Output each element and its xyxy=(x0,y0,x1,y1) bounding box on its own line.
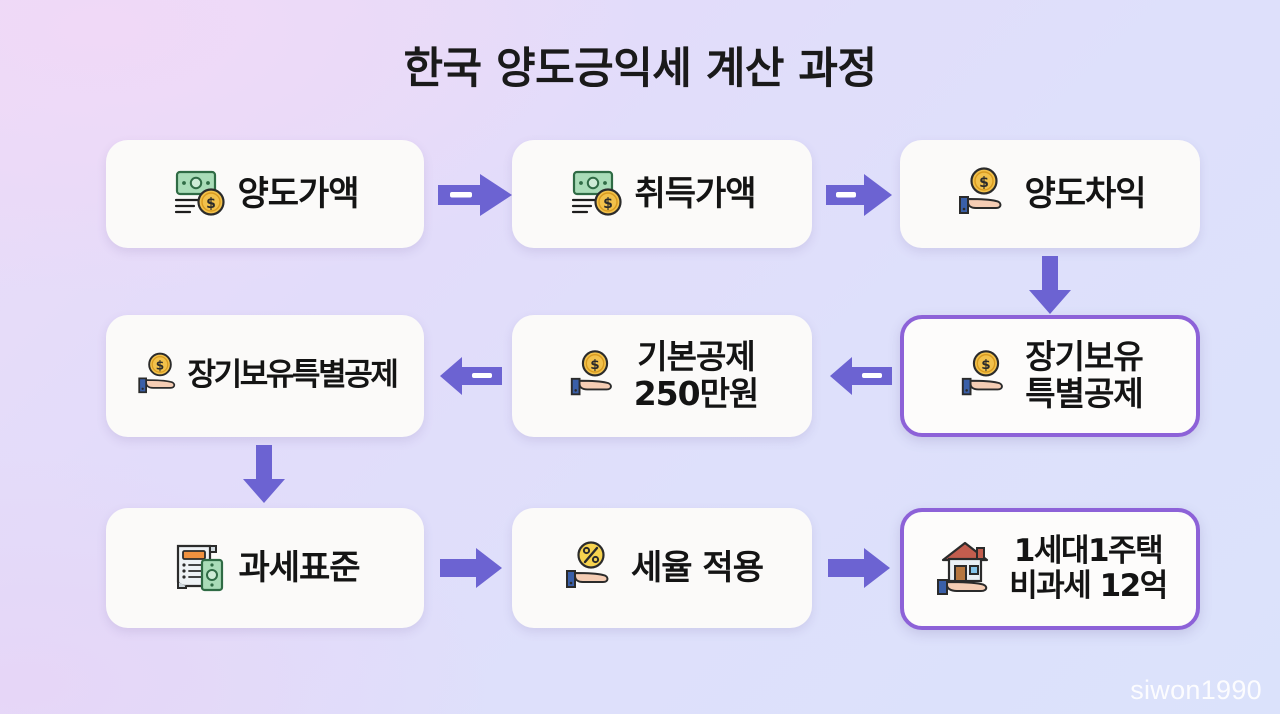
arrow-gain-to-longterm xyxy=(1026,254,1074,321)
minus-operator-icon xyxy=(450,192,472,198)
minus-operator-icon xyxy=(836,192,856,198)
receipt-money-icon xyxy=(170,538,228,599)
node-label: 기본공제 250만원 xyxy=(634,339,759,413)
arrow-transfer-to-acquisition xyxy=(436,172,514,223)
node-long-term-deduction[interactable]: $ 장기보유 특별공제 xyxy=(900,315,1200,437)
node-transfer-gain[interactable]: $ 양도차익 xyxy=(900,140,1200,248)
svg-text:$: $ xyxy=(980,175,990,191)
page-title: 한국 양도긍익세 계산 과정 xyxy=(0,34,1280,96)
node-exemption[interactable]: 1세대1주택 비과세 12억 xyxy=(900,508,1200,630)
node-label: 1세대1주택 비과세 12억 xyxy=(1009,534,1167,603)
banknote-coin-icon: $ xyxy=(568,167,624,222)
minus-operator-icon xyxy=(472,373,492,378)
watermark: siwon1990 xyxy=(1130,675,1262,706)
hand-coin-icon: $ xyxy=(134,350,186,403)
hand-coin-icon: $ xyxy=(954,165,1014,224)
hand-coin-icon: $ xyxy=(566,347,624,406)
arrow-ltsingle-to-taxbase xyxy=(240,443,288,510)
arrow-longterm-to-basic xyxy=(828,355,894,402)
node-label: 세율 적용 xyxy=(631,550,763,587)
node-acquisition-price[interactable]: $ 취득가액 xyxy=(512,140,812,248)
hand-house-icon xyxy=(933,538,999,601)
infographic-canvas: 한국 양도긍익세 계산 과정 $ 양도가액 xyxy=(0,0,1280,714)
hand-coin-icon: $ xyxy=(957,347,1015,406)
svg-text:$: $ xyxy=(155,358,163,372)
arrow-basic-to-ltsingle xyxy=(438,355,504,402)
node-tax-base[interactable]: 과세표준 xyxy=(106,508,424,628)
svg-text:$: $ xyxy=(207,196,217,212)
svg-text:$: $ xyxy=(604,196,614,212)
arrow-taxrate-to-exemption xyxy=(826,546,892,595)
hand-percent-icon xyxy=(561,539,621,598)
svg-text:$: $ xyxy=(590,357,599,373)
svg-text:$: $ xyxy=(982,357,991,373)
node-label: 취득가액 xyxy=(634,176,755,213)
node-label: 장기보유특별공제 xyxy=(188,359,397,392)
node-long-term-special-deduction[interactable]: $ 장기보유특별공제 xyxy=(106,315,424,437)
minus-operator-icon xyxy=(862,373,882,378)
arrow-acquisition-to-gain xyxy=(824,172,894,223)
node-label: 장기보유 특별공제 xyxy=(1025,339,1142,413)
node-tax-rate[interactable]: 세율 적용 xyxy=(512,508,812,628)
node-transfer-price[interactable]: $ 양도가액 xyxy=(106,140,424,248)
node-label: 과세표준 xyxy=(238,550,359,587)
node-basic-deduction[interactable]: $ 기본공제 250만원 xyxy=(512,315,812,437)
node-label: 양도차익 xyxy=(1024,176,1145,213)
banknote-coin-icon: $ xyxy=(171,167,227,222)
arrow-taxbase-to-taxrate xyxy=(438,546,504,595)
node-label: 양도가액 xyxy=(237,176,358,213)
